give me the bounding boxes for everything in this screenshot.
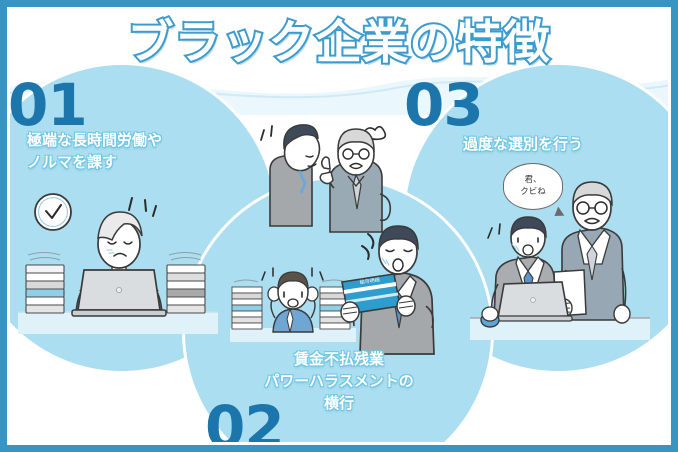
page-title: ブラック企業の特徴 — [128, 6, 551, 72]
stressed-worker-holding-head — [268, 272, 318, 332]
man-head — [379, 226, 418, 274]
section-caption-01: 極端な長時間労働や ノルマを課す — [27, 130, 162, 174]
speech-bubble-text: 君、 クビね — [520, 175, 546, 198]
shock-marks — [362, 234, 373, 259]
section-number-01: 01 — [8, 76, 87, 134]
sweat-marks — [261, 126, 272, 140]
section-number-03: 03 — [404, 76, 483, 134]
paper-stack-left — [232, 280, 262, 329]
paper-stack-right — [167, 253, 205, 314]
speech-bubble-you-are-fired: 君、 クビね — [503, 163, 563, 210]
title-container: ブラック企業の特徴 — [0, 6, 678, 72]
infographic-canvas: 給与明細 — [0, 0, 678, 452]
illustration-section-03 — [470, 180, 650, 345]
illustration-section-01 — [14, 186, 224, 346]
section-caption-03: 過度な選別を行う — [463, 134, 583, 156]
stress-marks — [129, 198, 156, 216]
section-caption-02: 賃金不払残業 パワーハラスメントの 横行 — [216, 349, 462, 414]
paper-stack-left — [26, 253, 64, 314]
angry-boss-pointing-finger — [320, 129, 390, 232]
sweat-marks — [488, 224, 500, 238]
clock-icon — [35, 194, 71, 230]
worker-at-laptop — [72, 212, 166, 316]
scolded-employee-bowing — [270, 125, 325, 226]
illustration-man-with-pay-envelope: 給与明細 — [328, 218, 458, 358]
